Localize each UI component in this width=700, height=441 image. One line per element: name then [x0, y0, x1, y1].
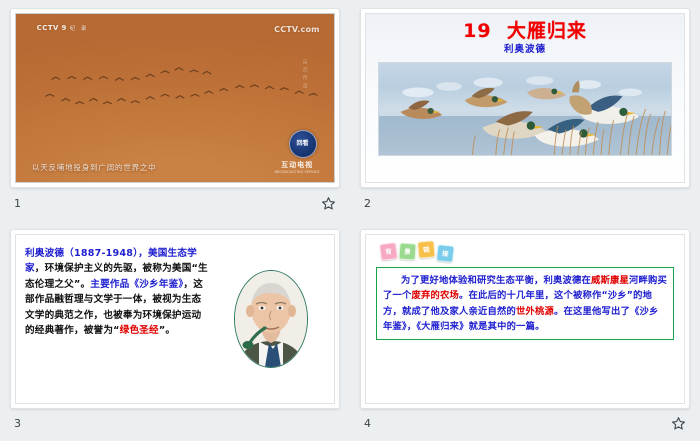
- slide-thumbnail-1[interactable]: CCTV 9 纪 录 CCTV.com 自然传奇 以天反哺地投身到广阔的世界之中…: [10, 8, 340, 188]
- leopold-biography-text: 利奥波德（1887-1948），美国生态学家，环境保护主义的先驱，被称为美国“生…: [16, 235, 213, 403]
- slide-thumbnail-2[interactable]: 19 大雁归来 利奥波德: [360, 8, 690, 188]
- aldo-leopold-portrait-icon: [235, 271, 307, 367]
- program-vertical-title: 自然传奇: [302, 59, 309, 91]
- para-run-5: 世外桃源: [516, 306, 554, 317]
- star-outline-icon[interactable]: [671, 416, 686, 431]
- slide-cell-2: 19 大雁归来 利奥波德: [350, 0, 700, 221]
- slide-cell-3: 利奥波德（1887-1948），美国生态学家，环境保护主义的先驱，被称为美国“生…: [0, 221, 350, 441]
- slide-footer-3: 3: [10, 409, 340, 439]
- slide-number-4: 4: [364, 418, 371, 429]
- heading-tile-1: 背: [379, 242, 398, 261]
- broadcaster-caption: 互动电视 BROADCASTING SERVICE: [274, 160, 319, 174]
- lesson-title: 19 大雁归来: [366, 22, 684, 41]
- ducks-photo: [378, 62, 672, 156]
- heading-tile-2: 景: [398, 242, 416, 260]
- ducks-and-reeds-illustration: [379, 63, 671, 155]
- lesson-title-text: 大雁归来: [507, 20, 587, 42]
- para-run-1: 威斯康星: [591, 275, 629, 286]
- slide-thumbnail-3[interactable]: 利奥波德（1887-1948），美国生态学家，环境保护主义的先驱，被称为美国“生…: [10, 229, 340, 409]
- avatar: [234, 270, 308, 368]
- star-outline-icon[interactable]: [321, 196, 336, 211]
- slide-footer-2: 2: [360, 188, 690, 218]
- bio-run-2: 主要作品《沙乡年鉴》: [90, 279, 183, 290]
- cctv-channel-sub: 纪 录: [70, 26, 89, 32]
- slide-number-1: 1: [14, 198, 21, 209]
- slide-2-canvas: 19 大雁归来 利奥波德: [365, 13, 685, 183]
- slide-1-caption: 以天反哺地投身到广阔的世界之中: [32, 162, 157, 173]
- slide-number-3: 3: [14, 418, 21, 429]
- lesson-author: 利奥波德: [366, 45, 684, 55]
- portrait-container: [213, 235, 334, 403]
- cctv-watermark: CCTV.com: [274, 25, 320, 34]
- cctv-channel-logo: CCTV 9 纪 录: [37, 24, 89, 33]
- flying-geese-illustration: [16, 14, 334, 182]
- background-paragraph: 为了更好地体验和研究生态平衡，利奥波德在威斯康星河畔购买了一个废弃的农场。在此后…: [376, 267, 674, 340]
- broadcaster-name: 互动电视: [281, 161, 313, 169]
- slide-thumbnail-grid: CCTV 9 纪 录 CCTV.com 自然传奇 以天反哺地投身到广阔的世界之中…: [0, 0, 700, 441]
- replay-badge: 回看: [289, 130, 317, 158]
- slide-cell-1: CCTV 9 纪 录 CCTV.com 自然传奇 以天反哺地投身到广阔的世界之中…: [0, 0, 350, 221]
- bio-run-4: 绿色圣经: [120, 325, 159, 336]
- slide-footer-1: 1: [10, 188, 340, 218]
- slide-4-canvas: 背 景 链 接 为了更好地体验和研究生态平衡，利奥波德在威斯康星河畔购买了一个废…: [365, 234, 685, 404]
- slide-cell-4: 背 景 链 接 为了更好地体验和研究生态平衡，利奥波德在威斯康星河畔购买了一个废…: [350, 221, 700, 441]
- para-run-0: 为了更好地体验和研究生态平衡，利奥波德在: [401, 275, 591, 286]
- slide-footer-4: 4: [360, 409, 690, 439]
- lesson-number: 19: [463, 20, 491, 42]
- para-run-3: 废弃的农场: [412, 290, 460, 301]
- heading-tile-3: 链: [417, 240, 435, 258]
- broadcaster-subtext: BROADCASTING SERVICE: [274, 170, 319, 174]
- slide-1-canvas: CCTV 9 纪 录 CCTV.com 自然传奇 以天反哺地投身到广阔的世界之中…: [15, 13, 335, 183]
- slide-number-2: 2: [364, 198, 371, 209]
- bio-run-5: ”。: [159, 325, 175, 336]
- section-heading-tiles: 背 景 链 接: [380, 243, 674, 264]
- slide-3-canvas: 利奥波德（1887-1948），美国生态学家，环境保护主义的先驱，被称为美国“生…: [15, 234, 335, 404]
- heading-tile-4: 接: [436, 244, 455, 263]
- slide-thumbnail-4[interactable]: 背 景 链 接 为了更好地体验和研究生态平衡，利奥波德在威斯康星河畔购买了一个废…: [360, 229, 690, 409]
